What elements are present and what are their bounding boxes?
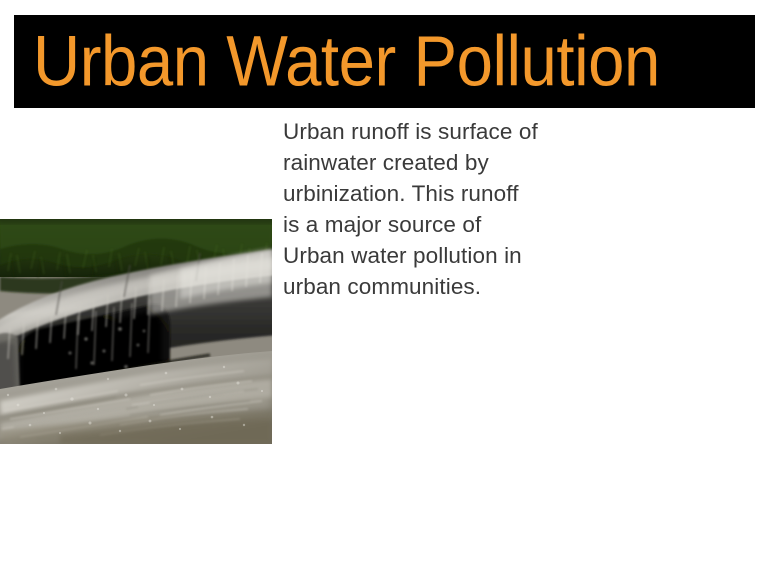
storm-drain-photo [0,219,272,444]
storm-drain-illustration [0,219,272,444]
body-paragraph: Urban runoff is surface of rainwater cre… [283,116,593,302]
slide-canvas: Urban Water Pollution [0,0,768,561]
title-banner: Urban Water Pollution [14,15,755,108]
page-title: Urban Water Pollution [33,26,660,97]
